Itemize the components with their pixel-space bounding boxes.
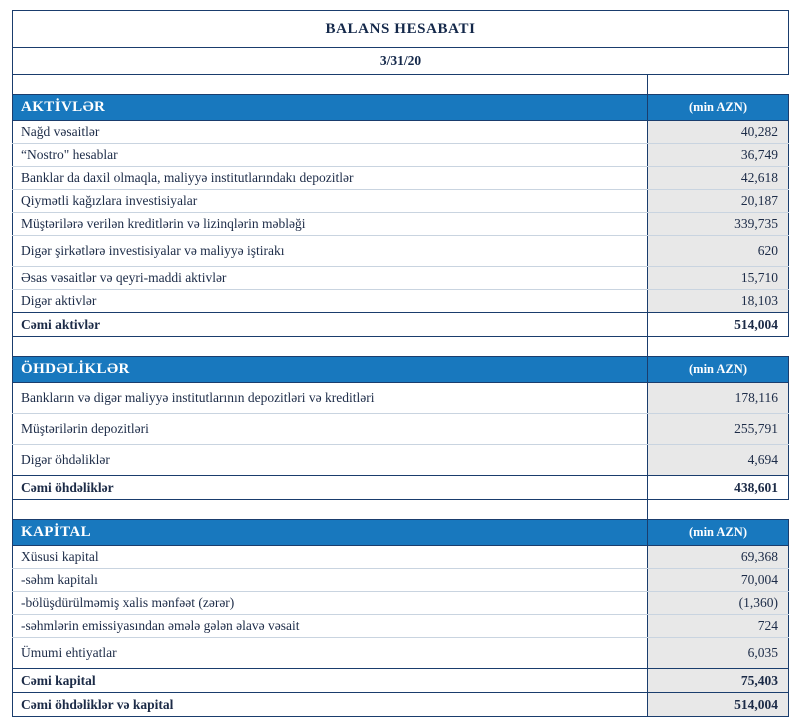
total-label: Cəmi kapital	[13, 669, 648, 693]
section-title-liabilities: ÖHDƏLİKLƏR	[13, 357, 648, 383]
total-label: Cəmi öhdəliklər	[13, 476, 648, 500]
row-label: Əsas vəsaitlər və qeyri-maddi aktivlər	[13, 267, 648, 290]
spacer-cell-right	[648, 75, 789, 95]
row-label: Digər aktivlər	[13, 290, 648, 313]
total-label: Cəmi aktivlər	[13, 313, 648, 337]
row-value: (1,360)	[648, 592, 789, 615]
row-label: Nağd vəsaitlər	[13, 121, 648, 144]
row-label: “Nostro" hesablar	[13, 144, 648, 167]
row-value: 69,368	[648, 546, 789, 569]
row-label: Müştərilərə verilən kreditlərin və lizin…	[13, 213, 648, 236]
report-date: 3/31/20	[13, 48, 789, 75]
row-value: 339,735	[648, 213, 789, 236]
table-row: Digər şirkətlərə investisiyalar və maliy…	[13, 236, 789, 267]
spacer-cell-right	[648, 337, 789, 357]
section-title-capital: KAPİTAL	[13, 520, 648, 546]
grand-total-value: 514,004	[648, 693, 789, 717]
table-row: Ümumi ehtiyatlar 6,035	[13, 638, 789, 669]
table-row: Digər aktivlər 18,103	[13, 290, 789, 313]
row-value: 36,749	[648, 144, 789, 167]
row-label: Banklar da daxil olmaqla, maliyyə instit…	[13, 167, 648, 190]
row-value: 15,710	[648, 267, 789, 290]
spacer-cell-left	[13, 75, 648, 95]
row-label: Ümumi ehtiyatlar	[13, 638, 648, 669]
row-value: 70,004	[648, 569, 789, 592]
table-row: -bölüşdürülməmiş xalis mənfəət (zərər) (…	[13, 592, 789, 615]
spacer-cell-left	[13, 500, 648, 520]
table-row: Xüsusi kapital 69,368	[13, 546, 789, 569]
row-label: -bölüşdürülməmiş xalis mənfəət (zərər)	[13, 592, 648, 615]
section-header-capital: KAPİTAL (min AZN)	[13, 520, 789, 546]
spacer-cell-right	[648, 500, 789, 520]
section-header-assets: AKTİVLƏR (min AZN)	[13, 95, 789, 121]
table-row: Əsas vəsaitlər və qeyri-maddi aktivlər 1…	[13, 267, 789, 290]
total-row-liabilities-and-capital: Cəmi öhdəliklər və kapital 514,004	[13, 693, 789, 717]
total-row-assets: Cəmi aktivlər 514,004	[13, 313, 789, 337]
row-label: -səhm kapitalı	[13, 569, 648, 592]
total-value: 75,403	[648, 669, 789, 693]
row-value: 724	[648, 615, 789, 638]
row-value: 42,618	[648, 167, 789, 190]
balance-sheet-table: BALANS HESABATI 3/31/20 AKTİVLƏR (min AZ…	[12, 10, 789, 717]
table-row: Müştərilərin depozitləri 255,791	[13, 414, 789, 445]
row-label: -səhmlərin emissiyasından əmələ gələn əl…	[13, 615, 648, 638]
row-label: Bankların və digər maliyyə institutların…	[13, 383, 648, 414]
spacer-row-top	[13, 75, 789, 95]
table-row: Digər öhdəliklər 4,694	[13, 445, 789, 476]
total-row-liabilities: Cəmi öhdəliklər 438,601	[13, 476, 789, 500]
row-label: Müştərilərin depozitləri	[13, 414, 648, 445]
table-row: -səhm kapitalı 70,004	[13, 569, 789, 592]
row-label: Digər şirkətlərə investisiyalar və maliy…	[13, 236, 648, 267]
row-value: 18,103	[648, 290, 789, 313]
row-label: Digər öhdəliklər	[13, 445, 648, 476]
row-label: Xüsusi kapital	[13, 546, 648, 569]
table-row: Qiymətli kağızlara investisiyalar 20,187	[13, 190, 789, 213]
row-value: 40,282	[648, 121, 789, 144]
table-row: Banklar da daxil olmaqla, maliyyə instit…	[13, 167, 789, 190]
spacer-cell-left	[13, 337, 648, 357]
section-unit-liabilities: (min AZN)	[648, 357, 789, 383]
row-value: 20,187	[648, 190, 789, 213]
table-row: -səhmlərin emissiyasından əmələ gələn əl…	[13, 615, 789, 638]
table-row: Bankların və digər maliyyə institutların…	[13, 383, 789, 414]
total-value: 438,601	[648, 476, 789, 500]
section-title-assets: AKTİVLƏR	[13, 95, 648, 121]
section-unit-capital: (min AZN)	[648, 520, 789, 546]
table-row: Müştərilərə verilən kreditlərin və lizin…	[13, 213, 789, 236]
balance-sheet-document: BALANS HESABATI 3/31/20 AKTİVLƏR (min AZ…	[0, 0, 800, 680]
grand-total-label: Cəmi öhdəliklər və kapital	[13, 693, 648, 717]
row-value: 620	[648, 236, 789, 267]
document-title-row: BALANS HESABATI	[13, 11, 789, 48]
section-unit-assets: (min AZN)	[648, 95, 789, 121]
total-value: 514,004	[648, 313, 789, 337]
table-row: “Nostro" hesablar 36,749	[13, 144, 789, 167]
row-value: 178,116	[648, 383, 789, 414]
row-value: 4,694	[648, 445, 789, 476]
table-row: Nağd vəsaitlər 40,282	[13, 121, 789, 144]
document-date-row: 3/31/20	[13, 48, 789, 75]
row-value: 255,791	[648, 414, 789, 445]
section-header-liabilities: ÖHDƏLİKLƏR (min AZN)	[13, 357, 789, 383]
row-label: Qiymətli kağızlara investisiyalar	[13, 190, 648, 213]
page-title: BALANS HESABATI	[13, 11, 789, 48]
spacer-row-assets-liabilities	[13, 337, 789, 357]
spacer-row-liabilities-capital	[13, 500, 789, 520]
total-row-capital: Cəmi kapital 75,403	[13, 669, 789, 693]
row-value: 6,035	[648, 638, 789, 669]
